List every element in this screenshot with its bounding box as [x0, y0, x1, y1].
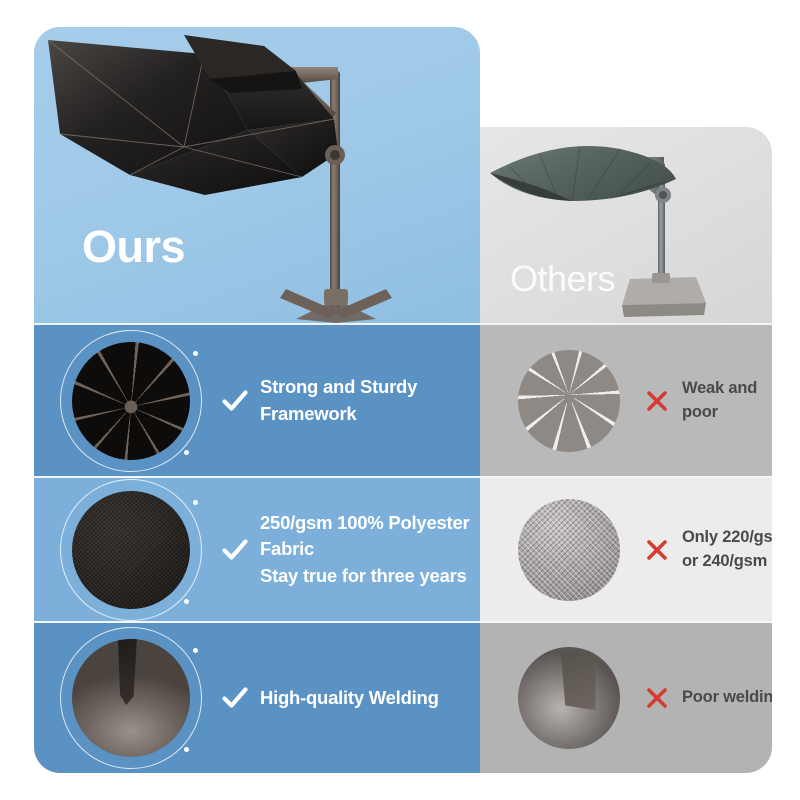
hero-panel-others: Others	[480, 127, 772, 323]
ring-dot-icon	[184, 450, 189, 455]
feature-text: 250/gsm 100% Polyester Fabric Stay true …	[260, 510, 469, 589]
feature-row-welding: High-quality Welding Poor welding	[34, 623, 772, 773]
thumb-wrap	[72, 491, 190, 609]
feature-text: Weak and poor	[682, 377, 757, 424]
others-cell-fabric: Only 220/gsm or 240/gsm	[480, 478, 772, 621]
cantilever-umbrella-black-icon	[34, 27, 480, 323]
ring-dot-icon	[193, 351, 198, 356]
thumb-wrap	[518, 350, 620, 452]
fabric-swatch-black-photo-icon	[72, 491, 190, 609]
ring-dot-icon	[184, 599, 189, 604]
welded-joint-poor-photo-icon	[518, 647, 620, 749]
feature-text: Poor welding	[682, 686, 772, 709]
hero-panel-ours: Ours	[34, 27, 480, 323]
others-cell-welding: Poor welding	[480, 623, 772, 773]
umbrella-frame-dark-photo-icon	[72, 342, 190, 460]
fabric-swatch-gray-photo-icon	[518, 499, 620, 601]
feature-row-framework: Strong and Sturdy Framework Weak and poo…	[34, 325, 772, 476]
thumb-wrap	[72, 639, 190, 757]
check-icon	[220, 539, 250, 561]
others-cell-framework: Weak and poor	[480, 325, 772, 476]
umbrella-frame-light-photo-icon	[518, 350, 620, 452]
cross-icon	[642, 539, 672, 561]
check-icon	[220, 390, 250, 412]
thumb-wrap	[518, 499, 620, 601]
ours-cell-fabric: 250/gsm 100% Polyester Fabric Stay true …	[34, 478, 480, 621]
ours-cell-welding: High-quality Welding	[34, 623, 480, 773]
check-icon	[220, 687, 250, 709]
comparison-infographic: Ours	[0, 0, 800, 800]
cross-icon	[642, 390, 672, 412]
ring-dot-icon	[193, 648, 198, 653]
thumb-wrap	[518, 647, 620, 749]
ring-dot-icon	[193, 500, 198, 505]
hero-label-others: Others	[510, 261, 615, 297]
ring-dot-icon	[184, 747, 189, 752]
ours-cell-framework: Strong and Sturdy Framework	[34, 325, 480, 476]
feature-text: Only 220/gsm or 240/gsm	[682, 526, 772, 573]
feature-text: Strong and Sturdy Framework	[260, 374, 417, 427]
cross-icon	[642, 687, 672, 709]
welded-joint-good-photo-icon	[72, 639, 190, 757]
feature-row-fabric: 250/gsm 100% Polyester Fabric Stay true …	[34, 478, 772, 621]
hero-label-ours: Ours	[82, 224, 185, 269]
feature-text: High-quality Welding	[260, 685, 439, 711]
thumb-wrap	[72, 342, 190, 460]
